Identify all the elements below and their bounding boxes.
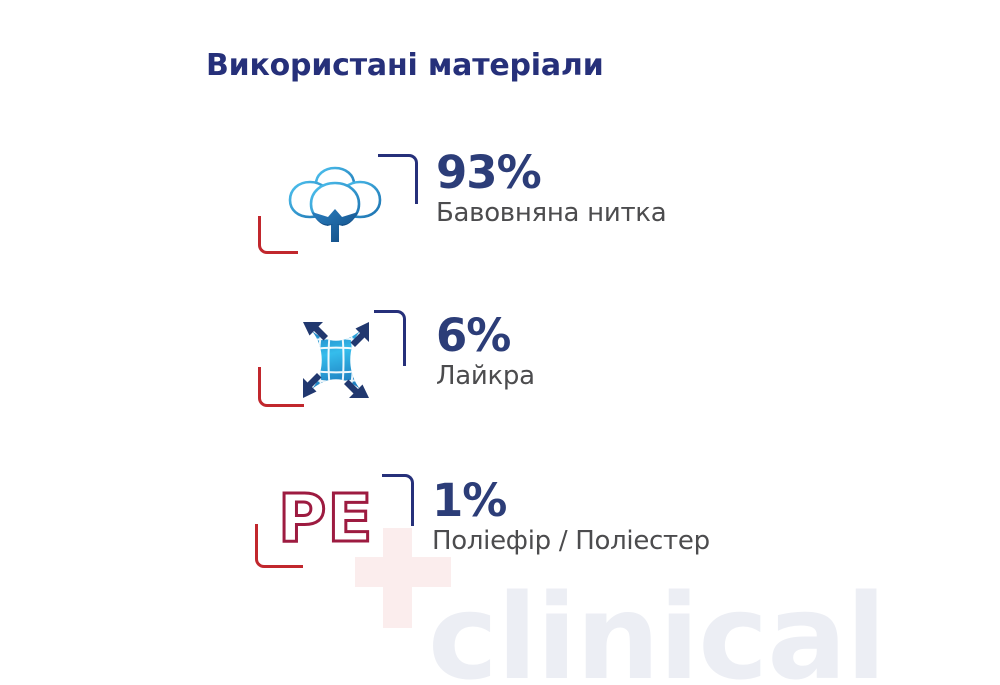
cotton-text-block: 93% Бавовняна нитка — [436, 150, 946, 229]
infographic-content: Використані матеріали — [0, 0, 1000, 685]
page-title: Використані матеріали — [206, 48, 604, 83]
pe-label: PE — [278, 486, 388, 552]
bracket-decoration-navy — [374, 310, 406, 366]
polyester-text-block: 1% Поліефір / Поліестер — [432, 478, 942, 557]
cotton-percent: 93% — [436, 150, 946, 196]
cotton-name: Бавовняна нитка — [436, 198, 946, 229]
lycra-percent: 6% — [436, 313, 946, 359]
material-item-polyester: PE 1% Поліефір / Поліестер — [250, 468, 950, 588]
stretch-fabric-icon — [298, 317, 374, 403]
material-item-lycra: 6% Лайкра — [250, 305, 950, 425]
material-item-cotton: 93% Бавовняна нитка — [250, 150, 950, 270]
lycra-text-block: 6% Лайкра — [436, 313, 946, 392]
polyester-percent: 1% — [432, 478, 942, 524]
polyester-name: Поліефір / Поліестер — [432, 526, 942, 557]
lycra-name: Лайкра — [436, 361, 946, 392]
bracket-decoration-navy — [378, 154, 418, 204]
pe-polyester-icon: PE — [278, 486, 388, 556]
cotton-boll-icon — [286, 162, 384, 244]
